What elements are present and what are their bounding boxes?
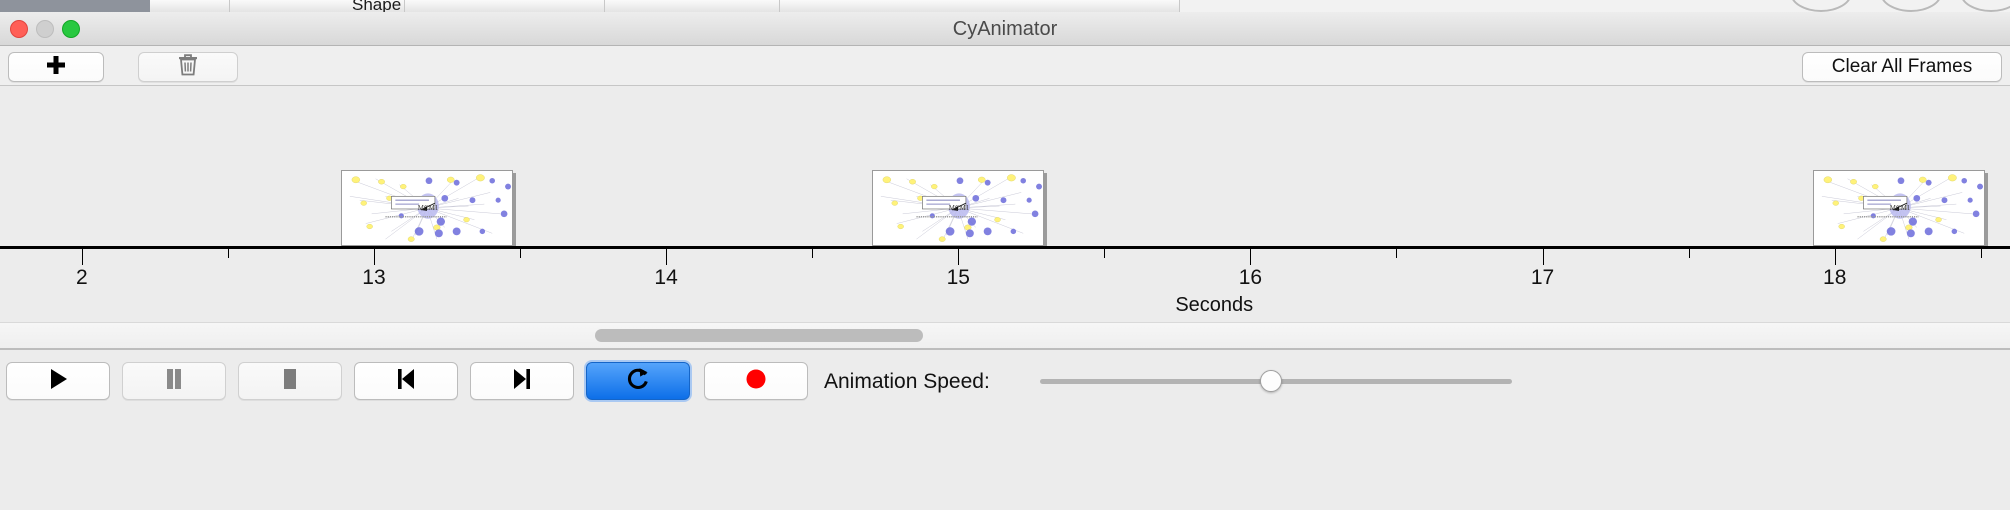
timeline-scrollbar[interactable] [0,322,2010,348]
clear-all-frames-button[interactable]: Clear All Frames [1802,52,2002,82]
axis-tick-label: 16 [1239,266,1262,290]
background-decoration-arc [1880,0,1942,12]
delete-frame-button[interactable] [138,52,238,82]
axis-tick-label: 18 [1823,266,1846,290]
add-frame-button[interactable] [8,52,104,82]
background-window-label: Shape [352,0,401,12]
timeline-frame-thumbnail[interactable]: MCM1 [872,170,1044,246]
axis-tick-minor [1981,249,1982,258]
trash-icon [177,53,199,82]
loop-icon [625,366,651,397]
cyanimator-window: Shape CyAnimator [0,0,2010,510]
axis-tick-major [1835,249,1836,265]
plus-icon [45,53,67,81]
axis-tick-minor [228,249,229,258]
axis-tick-major [1543,249,1544,265]
axis-tick-major [82,249,83,265]
axis-tick-label: 14 [654,266,677,290]
scrollbar-track[interactable] [0,329,2010,342]
axis-tick-major [1250,249,1251,265]
timeline-panel[interactable]: MCM1 MCM1 MCM1 2131415161718 Seconds [0,86,2010,326]
pause-icon [163,366,185,397]
record-icon [744,367,768,396]
background-window-segment [780,0,1180,12]
pause-button[interactable] [122,362,226,400]
animation-speed-slider-knob[interactable] [1260,370,1282,392]
svg-text:MCM1: MCM1 [1890,205,1911,212]
skip-forward-icon [510,366,534,397]
svg-text:MCM1: MCM1 [417,205,438,212]
axis-tick-label: 15 [947,266,970,290]
stop-icon [279,366,301,397]
axis-tick-label: 13 [362,266,385,290]
axis-tick-minor [1396,249,1397,258]
axis-tick-major [374,249,375,265]
background-decoration-arc [1790,0,1852,12]
svg-text:MCM1: MCM1 [949,205,970,212]
playback-control-bar: Animation Speed: [0,348,2010,510]
animation-speed-label: Animation Speed: [824,370,990,394]
axis-tick-minor [1689,249,1690,258]
record-button[interactable] [704,362,808,400]
axis-tick-major [958,249,959,265]
stop-button[interactable] [238,362,342,400]
timeline-frame-thumbnail[interactable]: MCM1 [341,170,513,246]
axis-tick-minor [1104,249,1105,258]
toolbar: Clear All Frames [0,46,2010,86]
window-title: CyAnimator [0,12,2010,46]
clear-all-frames-label: Clear All Frames [1832,56,1972,78]
title-bar: CyAnimator [0,12,2010,46]
axis-tick-minor [520,249,521,258]
axis-tick-label: 17 [1531,266,1554,290]
axis-tick-major [666,249,667,265]
background-window-strip: Shape [0,0,2010,12]
timeline-axis-title: Seconds [0,294,2010,317]
background-window-segment [150,0,230,12]
skip-back-button[interactable] [354,362,458,400]
skip-forward-button[interactable] [470,362,574,400]
play-button[interactable] [6,362,110,400]
scrollbar-thumb[interactable] [595,329,923,342]
axis-tick-label: 2 [76,266,88,290]
skip-back-icon [394,366,418,397]
background-window-dark-segment [0,0,150,12]
timeline-frame-thumbnail[interactable]: MCM1 [1813,170,1985,246]
play-icon [46,366,70,397]
loop-button[interactable] [586,362,690,400]
axis-tick-minor [812,249,813,258]
timeline-axis [0,246,2010,249]
background-window-segment [405,0,605,12]
background-decoration-arc [1960,0,2010,12]
background-window-segment [605,0,780,12]
